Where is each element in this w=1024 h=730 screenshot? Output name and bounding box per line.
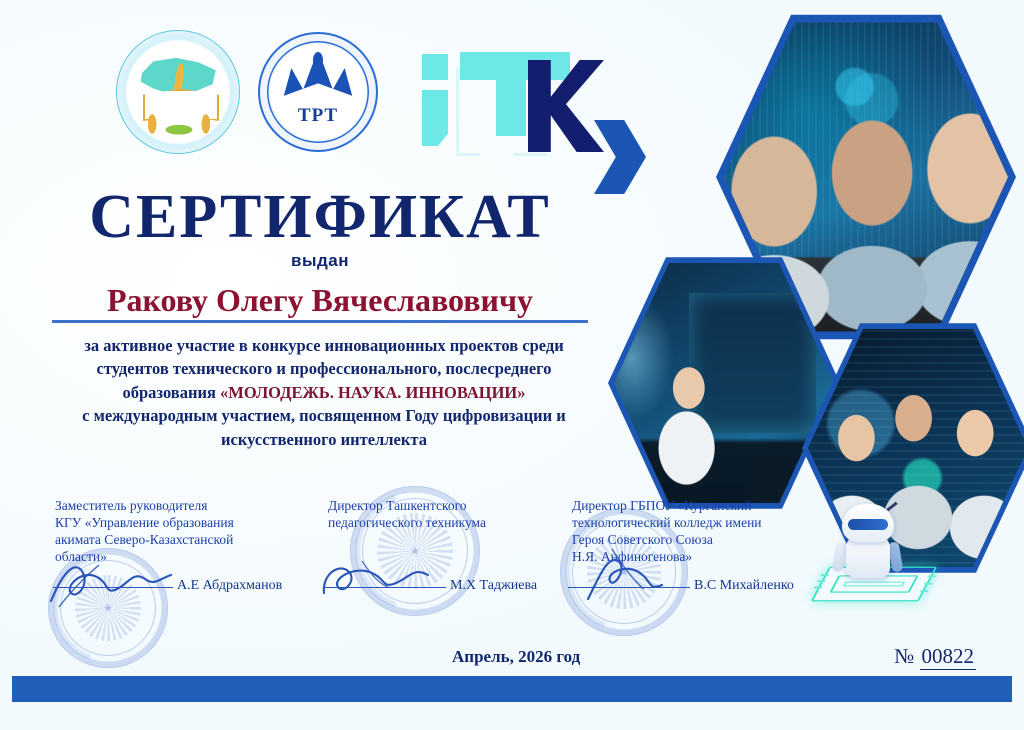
body-line-5: с международным участием, посвященном Го… — [82, 406, 566, 425]
logo-row: ТРТ — [108, 22, 628, 172]
body-line-6: искусственного интеллекта — [221, 430, 427, 449]
blue-footer-bar — [12, 676, 1012, 702]
signature-role-2: Директор Ташкентского педагогического те… — [328, 497, 558, 531]
number-label: № — [894, 644, 914, 668]
signature-role-1: Заместитель руководителя КГУ «Управление… — [55, 497, 305, 565]
robot-visor — [848, 519, 888, 530]
itk-logo — [408, 28, 608, 158]
signature-person-3: В.С Михайленко — [694, 579, 794, 593]
issue-date: Апрель, 2026 год — [452, 648, 580, 665]
recipient-underline — [52, 320, 588, 323]
certificate-number: № 00822 — [894, 646, 976, 667]
signature-line-1 — [53, 587, 173, 588]
ai-robot-on-chip — [812, 482, 932, 612]
certificate-title: СЕРТИФИКАТ — [0, 186, 640, 248]
signature-role-3: Директор ГБПОУ «Курганский технологическ… — [572, 497, 822, 565]
body-line-1: за активное участие в конкурсе инновацио… — [84, 336, 563, 355]
number-value: 00822 — [920, 644, 977, 670]
itk-letter-i-stem — [422, 90, 448, 146]
signature-block-2: Директор Ташкентского педагогического те… — [328, 497, 558, 531]
itk-letter-i-dot — [422, 54, 448, 80]
signature-block-3: Директор ГБПОУ «Курганский технологическ… — [572, 497, 822, 565]
robot-antenna — [886, 502, 897, 512]
sko-education-department-logo — [116, 30, 240, 154]
signature-person-1: А.Е Абдрахманов — [177, 579, 282, 593]
recipient-name: Ракову Олегу Вячеславовичу — [60, 283, 580, 318]
competition-name: «МОЛОДЕЖЬ. НАУКА. ИННОВАЦИИ» — [220, 383, 525, 402]
signature-line-2 — [324, 587, 446, 588]
itk-letter-t-stem — [496, 52, 526, 136]
body-line-3: образования — [122, 383, 220, 402]
logo-ring-text — [117, 31, 239, 153]
tpt-ring-text — [260, 34, 376, 150]
tpt-logo: ТРТ — [258, 32, 378, 152]
certificate-body: за активное участие в конкурсе инновацио… — [40, 334, 608, 451]
issued-label: выдан — [0, 252, 640, 269]
signature-person-2: М.Х Таджиева — [450, 579, 537, 593]
signature-line-3 — [568, 587, 690, 588]
certificate-page: ТРТ СЕРТИФИКАТ выдан Ракову Олегу Вячесл… — [0, 0, 1024, 730]
signature-block-1: Заместитель руководителя КГУ «Управление… — [55, 497, 305, 565]
body-line-2: студентов технического и профессионально… — [97, 359, 552, 378]
stamp-sko — [48, 548, 168, 668]
